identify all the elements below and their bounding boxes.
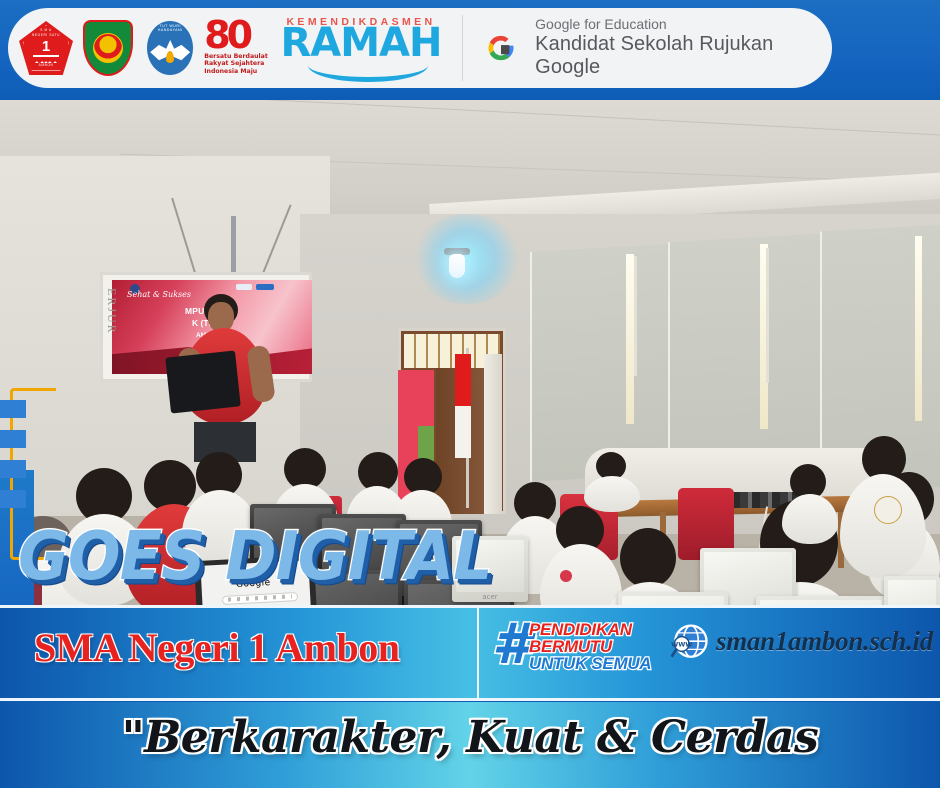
poster-canvas: Sehat & Sukses MPUAN K (TKA) AMBON JUJUR… [0, 0, 940, 788]
uniform-badge [560, 570, 572, 582]
participant-head [620, 528, 676, 588]
ramah-swoosh-icon [308, 62, 428, 82]
left-decor-stripes [0, 400, 26, 520]
website-url[interactable]: sman1ambon.sch.id [716, 626, 933, 657]
window-light-gap [626, 254, 634, 424]
anniversary-number: 80 [204, 20, 276, 50]
institution-logo-strip: S M A NEGERI SATU 1 AMBON TUT WURI HANDA… [18, 12, 832, 84]
google-badge-text: Google for Education Kandidat Sekolah Ru… [535, 16, 832, 80]
anniversary-line-2: Rakyat Sejahtera [204, 60, 276, 68]
blind-pull-rod [634, 256, 637, 376]
hashtag-icon: # [492, 621, 531, 669]
school-tagline: "Berkarakter, Kuat & Cerdas [0, 712, 940, 763]
header-logo-card: S M A NEGERI SATU 1 AMBON TUT WURI HANDA… [8, 8, 832, 88]
band-top-rule [0, 605, 940, 608]
google-for-education-badge: Google for Education Kandidat Sekolah Ru… [481, 16, 832, 80]
wall-pillar [484, 354, 502, 514]
footer-vertical-divider [477, 608, 479, 700]
google-title: Kandidat Sekolah Rujukan Google [535, 33, 832, 80]
ceiling-lamp-bulb [449, 254, 465, 278]
banner-headline: Sehat & Sukses [127, 290, 197, 299]
blind-pull-rod [766, 248, 769, 383]
window-blind [530, 244, 668, 482]
header-band: S M A NEGERI SATU 1 AMBON TUT WURI HANDA… [0, 0, 940, 100]
presenter-tablet [165, 350, 240, 413]
kemendikdasmen-ramah-logo: KEMENDIKDASMEN RAMAH [280, 12, 442, 84]
www-globe-icon[interactable]: WWW [668, 621, 712, 665]
hashtag-line-2: BERMUTU [529, 638, 651, 655]
ceiling-lamp-glow [412, 214, 522, 304]
indonesian-flag-red [455, 354, 471, 406]
hashtag-lines: PENDIDIKAN BERMUTU UNTUK SEMUA [529, 621, 651, 672]
projector-mount-rod [231, 216, 236, 278]
maluku-province-emblem-icon [80, 18, 136, 78]
uniform-crest [874, 496, 902, 524]
hashtag-line-1: PENDIDIKAN [529, 621, 651, 638]
anniversary-line-3: Indonesia Maju [204, 68, 276, 76]
goes-digital-headline: GOES DIGITAL [18, 528, 492, 590]
whiteboard-edge-text: ERJUR [104, 288, 119, 335]
svg-text:WWW: WWW [671, 641, 692, 649]
tut-wuri-handayani-emblem-icon: TUT WURI HANDAYANI [142, 18, 198, 78]
anniversary-80-logo: 80 Bersatu Berdaulat Rakyat Sejahtera In… [204, 15, 276, 81]
band-mid-rule [0, 698, 940, 701]
goes-digital-text: GOES DIGITAL [18, 523, 492, 590]
google-superline: Google for Education [535, 16, 832, 33]
indonesian-flag-white [455, 406, 471, 458]
banner-sponsor-mark [236, 284, 252, 290]
anniversary-line-1: Bersatu Berdaulat [204, 53, 276, 61]
header-divider [462, 15, 463, 81]
hashtag-line-3: UNTUK SEMUA [529, 655, 651, 672]
school-name: SMA Negeri 1 Ambon [34, 624, 399, 671]
participant-torso [584, 476, 640, 512]
sman1-ambon-emblem-icon: S M A NEGERI SATU 1 AMBON [18, 18, 74, 78]
google-g-icon [481, 28, 521, 68]
banner-sponsor-mark [256, 284, 274, 290]
tutwuri-arc-text: TUT WURI HANDAYANI [147, 24, 193, 32]
pendidikan-bermutu-logo: # PENDIDIKAN BERMUTU UNTUK SEMUA [492, 618, 651, 672]
window-light-gap [915, 236, 922, 421]
ramah-wordmark: RAMAH [280, 25, 442, 62]
